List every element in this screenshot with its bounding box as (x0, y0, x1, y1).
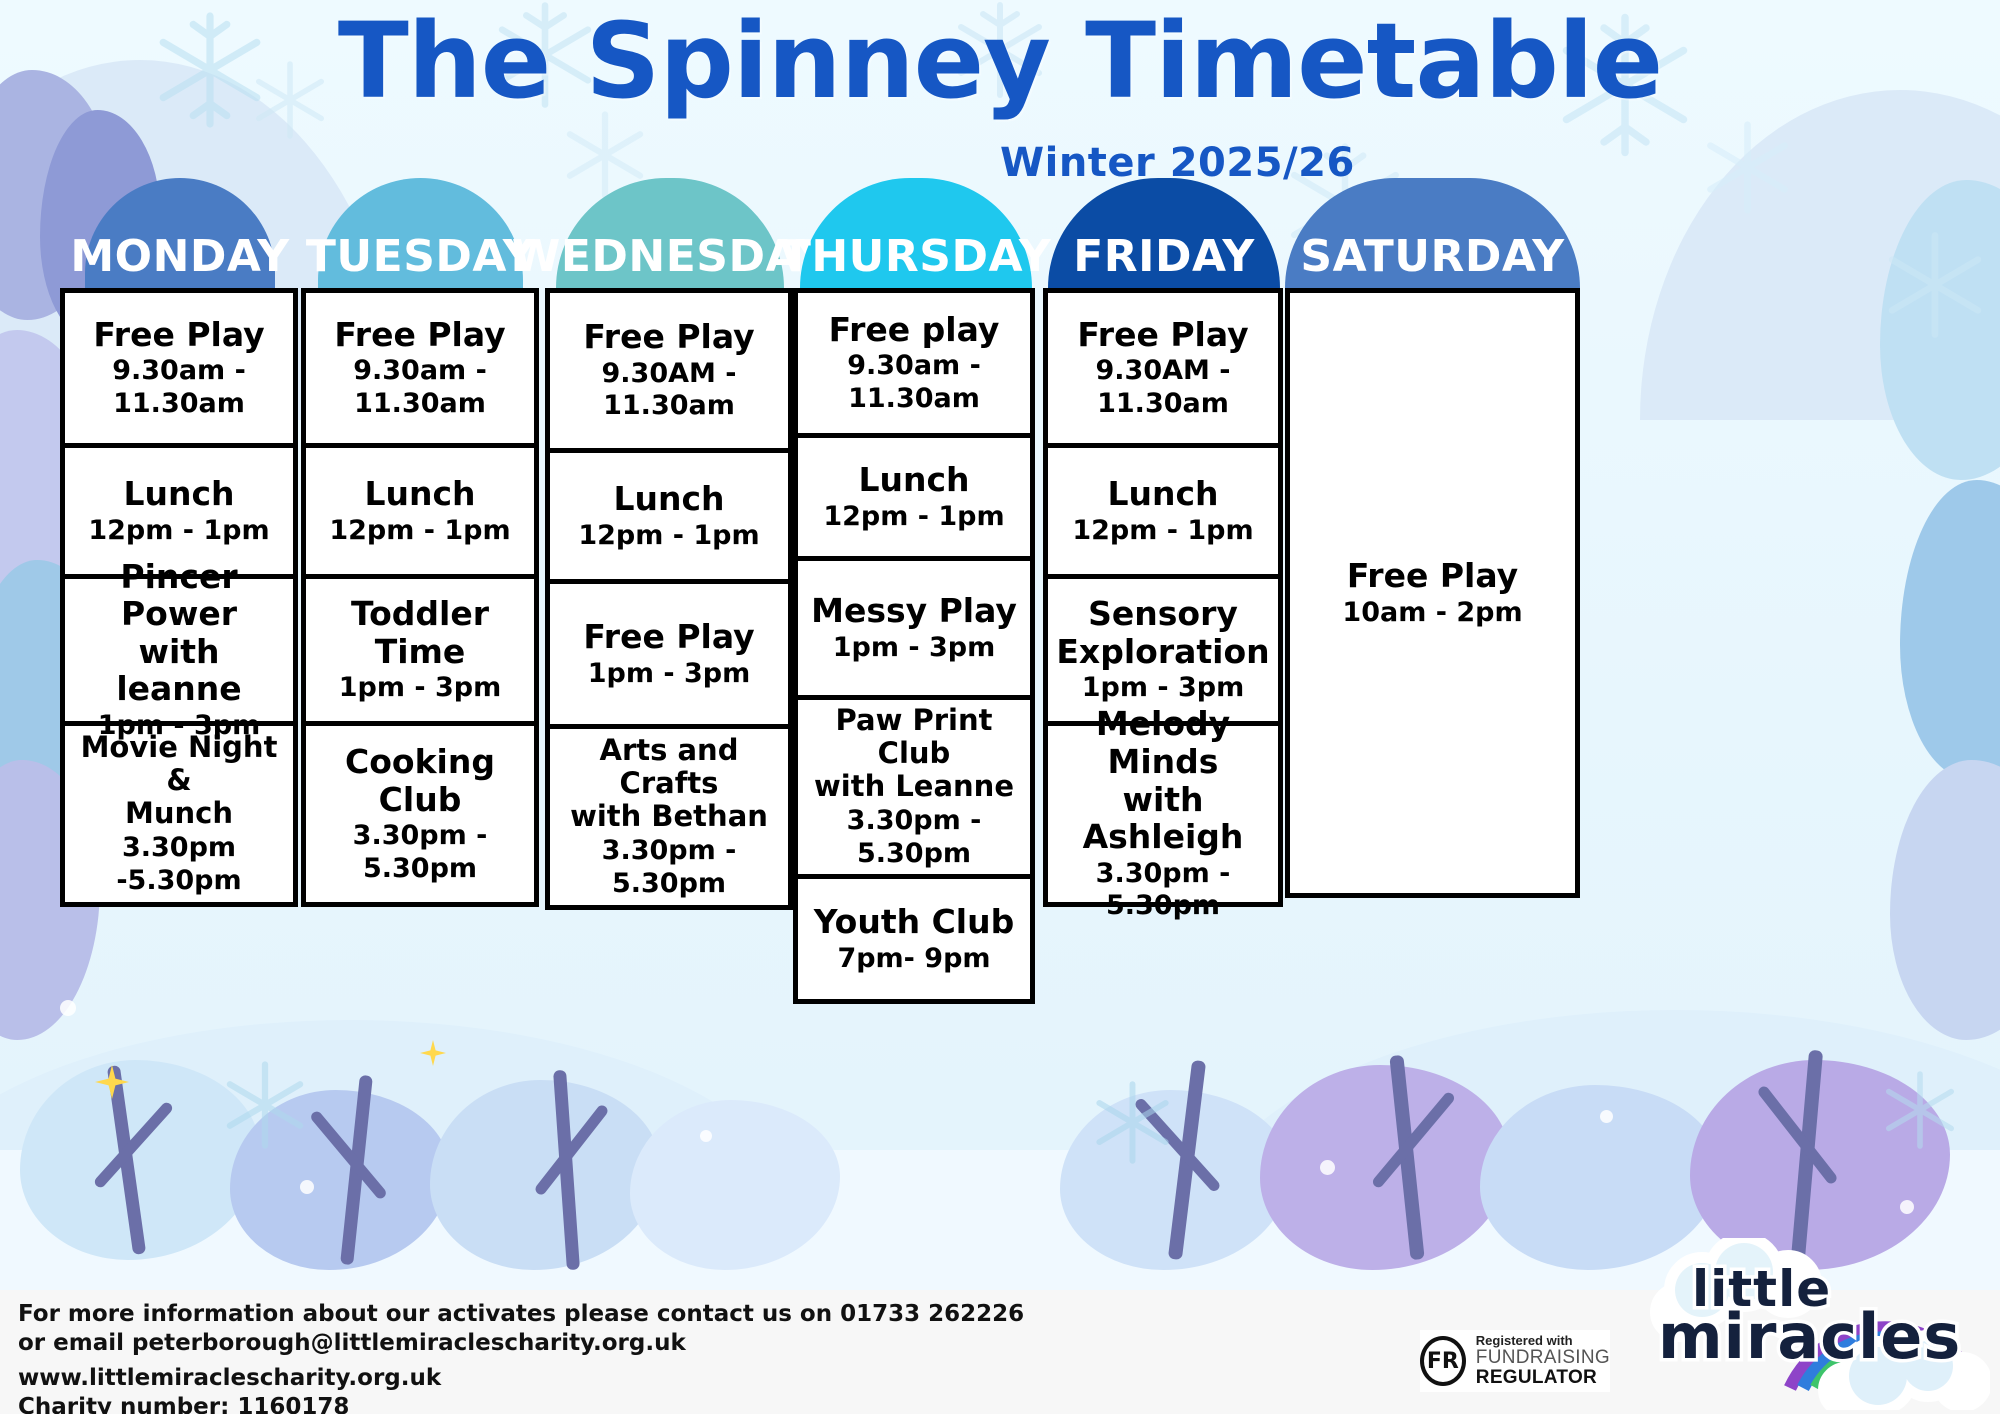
activity-title: Free Play (1077, 316, 1248, 354)
timetable-cell[interactable]: Messy Play1pm - 3pm (793, 556, 1035, 700)
sparkle-icon (420, 1040, 446, 1066)
activity-title: Lunch (613, 480, 724, 518)
activity-time: 12pm - 1pm (88, 515, 269, 547)
timetable-cell[interactable]: Lunch12pm - 1pm (545, 448, 793, 584)
activity-time: 3.30pm - 5.30pm (808, 805, 1020, 870)
activity-time: 12pm - 1pm (329, 515, 510, 547)
timetable-column-friday: Free Play9.30AM - 11.30amLunch12pm - 1pm… (1043, 288, 1283, 907)
activity-time: 12pm - 1pm (578, 520, 759, 552)
activity-time: 1pm - 3pm (833, 632, 996, 664)
activity-title: Pincer Powerwith leanne (75, 558, 283, 708)
timetable-cell[interactable]: Free Play9.30AM - 11.30am (1043, 288, 1283, 448)
timetable-column-tuesday: Free Play9.30am - 11.30amLunch12pm - 1pm… (301, 288, 539, 907)
fr-line-2: FUNDRAISING (1476, 1348, 1610, 1368)
timetable-column-wednesday: Free Play9.30AM - 11.30amLunch12pm - 1pm… (545, 288, 793, 910)
fundraising-regulator-badge: FR Registered with FUNDRAISING REGULATOR (1420, 1330, 1610, 1392)
timetable-cell[interactable]: Free Play9.30AM - 11.30am (545, 288, 793, 453)
timetable-cell[interactable]: Toddler Time1pm - 3pm (301, 574, 539, 726)
snowflake-icon (1090, 1080, 1175, 1165)
snow-dot (60, 1000, 76, 1016)
snowflake-icon (1700, 120, 1795, 215)
timetable-column-thursday: Free play9.30am - 11.30amLunch12pm - 1pm… (793, 288, 1035, 1004)
activity-time: 1pm - 3pm (588, 658, 751, 690)
snowflake-icon (950, 0, 1050, 100)
day-header-label: THURSDAY (781, 231, 1051, 282)
activity-title: Free Play (334, 316, 505, 354)
snowflake-icon (1880, 230, 1990, 340)
activity-time: 10am - 2pm (1342, 597, 1522, 629)
activity-time: 7pm- 9pm (837, 943, 990, 975)
timetable-poster: The Spinney Timetable Winter 2025/26 MON… (0, 0, 2000, 1414)
timetable-cell[interactable]: Free Play10am - 2pm (1285, 288, 1580, 898)
timetable-cell[interactable]: Youth Club7pm- 9pm (793, 874, 1035, 1004)
activity-time: 1pm - 3pm (1082, 672, 1245, 704)
sparkle-icon (95, 1065, 129, 1099)
activity-time: 12pm - 1pm (823, 501, 1004, 533)
activity-title: Lunch (858, 461, 969, 499)
activity-time: 3.30pm - 5.30pm (560, 835, 778, 900)
activity-title: Free Play (93, 316, 264, 354)
activity-title: Free Play (583, 618, 754, 656)
fr-badge-lines: Registered with FUNDRAISING REGULATOR (1476, 1334, 1610, 1388)
activity-title: Arts and Craftswith Bethan (560, 734, 778, 833)
timetable-column-monday: Free Play9.30am - 11.30amLunch12pm - 1pm… (60, 288, 298, 907)
timetable-cell[interactable]: Paw Print Clubwith Leanne3.30pm - 5.30pm (793, 695, 1035, 879)
activity-title: Free Play (583, 318, 754, 356)
timetable-cell[interactable]: Free Play9.30am - 11.30am (60, 288, 298, 448)
snowflake-icon (1550, 10, 1700, 160)
activity-time: 3.30pm - 5.30pm (1058, 858, 1268, 923)
activity-title: Paw Print Clubwith Leanne (808, 704, 1020, 803)
activity-title: Lunch (1107, 475, 1218, 513)
little-miracles-logo: little miracles (1640, 1238, 1990, 1410)
logo-line-2: miracles (1658, 1300, 1961, 1373)
footer-contact-text: For more information about our activates… (18, 1300, 1024, 1359)
snow-dot (1900, 1200, 1914, 1214)
footer-web-text: www.littlemiraclescharity.org.uk Charity… (18, 1364, 441, 1414)
activity-time: 9.30AM - 11.30am (560, 358, 778, 423)
timetable-column-saturday: Free Play10am - 2pm (1285, 288, 1580, 898)
snowflake-icon (1880, 1070, 1960, 1150)
activity-time: 12pm - 1pm (1072, 515, 1253, 547)
activity-time: 9.30am - 11.30am (75, 355, 283, 420)
activity-title: SensoryExploration (1056, 595, 1269, 670)
fr-line-1: Registered with (1476, 1334, 1610, 1348)
activity-title: Youth Club (814, 903, 1014, 941)
timetable-cell[interactable]: Arts and Craftswith Bethan3.30pm - 5.30p… (545, 724, 793, 910)
activity-title: Lunch (364, 475, 475, 513)
activity-title: Lunch (123, 475, 234, 513)
activity-title: Free Play (1347, 557, 1518, 595)
snow-dot (1320, 1160, 1335, 1175)
snow-dot (300, 1180, 314, 1194)
snow-dot (1600, 1110, 1613, 1123)
timetable-cell[interactable]: Free play9.30am - 11.30am (793, 288, 1035, 438)
timetable-cell[interactable]: SensoryExploration1pm - 3pm (1043, 574, 1283, 726)
snowflake-icon (250, 60, 330, 140)
timetable-cell[interactable]: Free Play1pm - 3pm (545, 579, 793, 729)
snow-dot (700, 1130, 712, 1142)
activity-time: 9.30AM - 11.30am (1058, 355, 1268, 420)
timetable-cell[interactable]: Lunch12pm - 1pm (301, 443, 539, 579)
day-header-label: TUESDAY (306, 231, 535, 282)
timetable-cell[interactable]: Melody Mindswith Ashleigh3.30pm - 5.30pm (1043, 721, 1283, 907)
fr-line-3: REGULATOR (1476, 1368, 1610, 1388)
timetable-cell[interactable]: Free Play9.30am - 11.30am (301, 288, 539, 448)
activity-title: Free play (829, 311, 1000, 349)
activity-time: 9.30am - 11.30am (808, 350, 1020, 415)
timetable-cell[interactable]: Cooking Club3.30pm - 5.30pm (301, 721, 539, 907)
day-header-label: FRIDAY (1073, 231, 1255, 282)
activity-title: Toddler Time (316, 595, 524, 670)
activity-title: Messy Play (811, 592, 1017, 630)
day-header-label: SATURDAY (1300, 231, 1564, 282)
activity-time: 3.30pm -5.30pm (75, 832, 283, 897)
activity-time: 3.30pm - 5.30pm (316, 820, 524, 885)
timetable-cell[interactable]: Movie Night &Munch3.30pm -5.30pm (60, 721, 298, 907)
fr-mark-icon: FR (1420, 1336, 1466, 1386)
activity-title: Cooking Club (316, 743, 524, 818)
activity-time: 9.30am - 11.30am (316, 355, 524, 420)
timetable-cell[interactable]: Lunch12pm - 1pm (793, 433, 1035, 561)
activity-title: Melody Mindswith Ashleigh (1058, 705, 1268, 855)
timetable-cell[interactable]: Lunch12pm - 1pm (1043, 443, 1283, 579)
snowflake-icon (490, 0, 600, 110)
timetable-cell[interactable]: Pincer Powerwith leanne1pm - 3pm (60, 574, 298, 726)
activity-title: Movie Night &Munch (75, 731, 283, 830)
day-header-label: MONDAY (70, 231, 289, 282)
snowflake-icon (220, 1060, 310, 1150)
activity-time: 1pm - 3pm (339, 672, 502, 704)
